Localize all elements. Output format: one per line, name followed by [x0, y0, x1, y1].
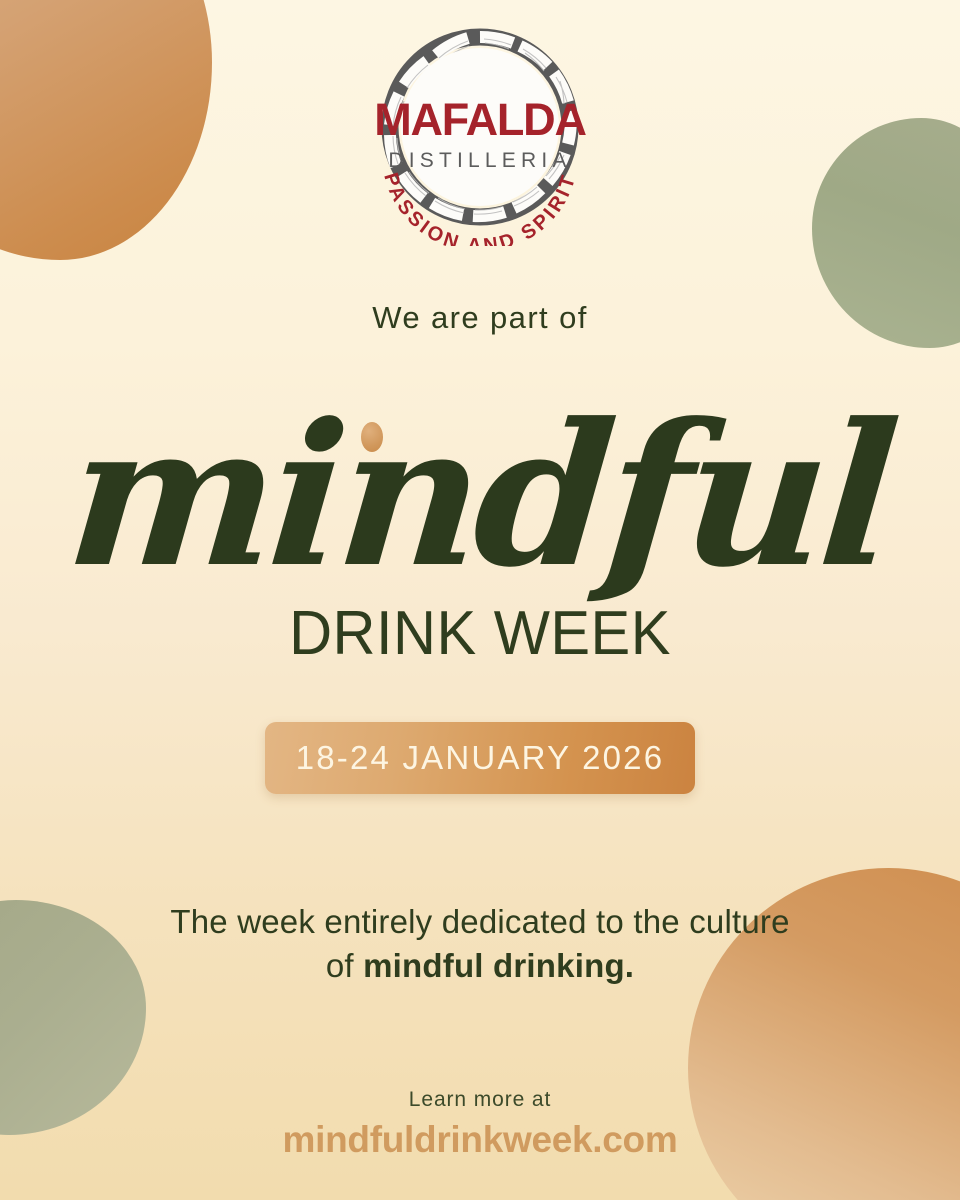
event-wordmark: mindful — [0, 398, 960, 598]
footer-lead-text: Learn more at — [0, 1088, 960, 1112]
wordmark-script-text: mindful — [61, 398, 899, 594]
wordmark-subtitle: DRINK WEEK — [19, 598, 941, 669]
promo-poster: MAFALDA DISTILLERIA PASSION AND SPIRIT W… — [0, 0, 960, 1200]
body-copy-line1: The week entirely dedicated to the — [170, 903, 679, 940]
footer-website-link[interactable]: mindfuldrinkweek.com — [0, 1119, 960, 1161]
svg-text:DISTILLERIA: DISTILLERIA — [388, 149, 571, 172]
svg-text:MAFALDA: MAFALDA — [374, 94, 586, 145]
event-date-badge: 18-24 JANUARY 2026 — [265, 722, 695, 794]
footer: Learn more at mindfuldrinkweek.com — [0, 1088, 960, 1161]
body-copy-line2-bold: mindful drinking. — [363, 947, 634, 984]
event-date-label: 18-24 JANUARY 2026 — [296, 739, 665, 777]
i-dot-accent-icon — [361, 422, 383, 452]
kicker-text: We are part of — [0, 300, 960, 336]
brand-logo: MAFALDA DISTILLERIA PASSION AND SPIRIT — [0, 22, 960, 246]
body-copy: The week entirely dedicated to the cultu… — [170, 900, 790, 988]
logo-badge-icon: MAFALDA DISTILLERIA PASSION AND SPIRIT — [368, 22, 592, 246]
